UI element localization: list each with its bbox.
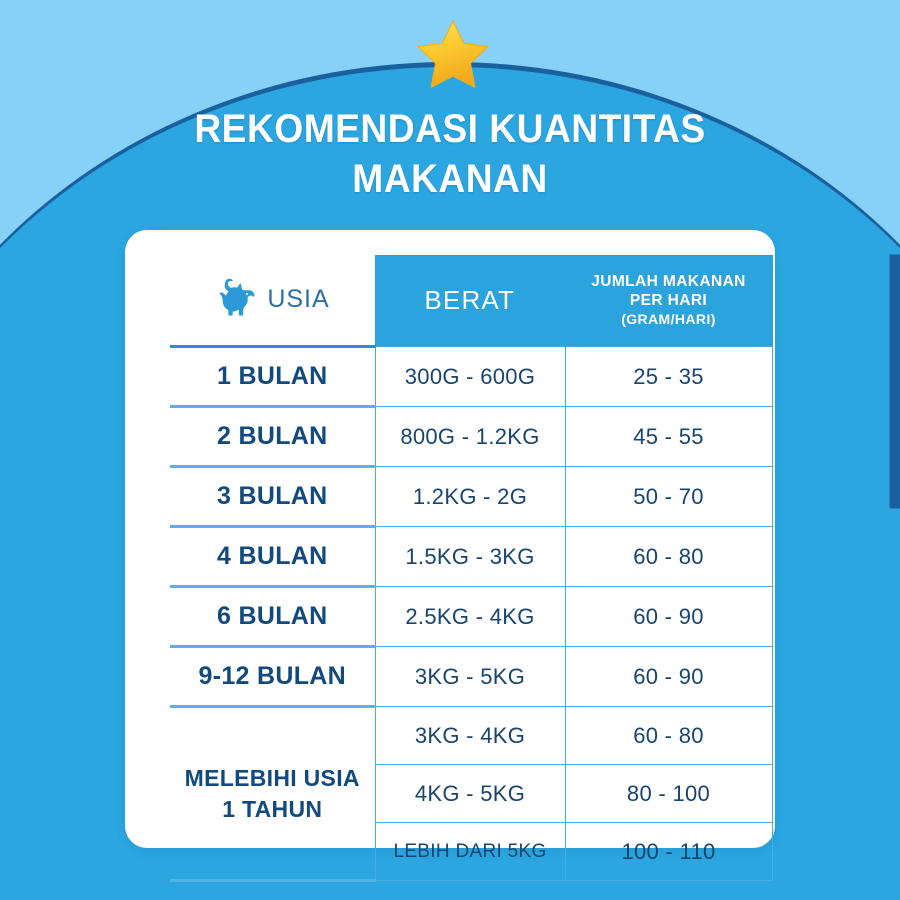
header-label-food-line-3: (GRAM/HARI) — [572, 310, 766, 329]
cell-food: 25 - 35 — [565, 347, 772, 407]
page-title: REKOMENDASI KUANTITAS MAKANAN — [32, 104, 869, 204]
header-label-weight: BERAT — [424, 285, 515, 315]
cell-weight: 1.2KG - 2G — [375, 467, 565, 527]
cat-icon — [215, 275, 259, 324]
cell-weight: 3KG - 4KG — [375, 707, 565, 765]
table-header-row: USIA BERAT JUMLAH MAKANAN PER HARI (GRAM… — [170, 255, 772, 347]
cell-weight: 4KG - 5KG — [375, 765, 565, 823]
cell-food: 50 - 70 — [565, 467, 772, 527]
cell-weight: 300G - 600G — [375, 347, 565, 407]
table-card: USIA BERAT JUMLAH MAKANAN PER HARI (GRAM… — [125, 230, 775, 848]
header-label-age: USIA — [267, 285, 329, 314]
table-row: 1 BULAN 300G - 600G 25 - 35 — [170, 347, 772, 407]
table-row: 3 BULAN 1.2KG - 2G 50 - 70 — [170, 467, 772, 527]
table-row: 9-12 BULAN 3KG - 5KG 60 - 90 — [170, 647, 772, 707]
cell-age-over-one-year: MELEBIHI USIA 1 TAHUN — [170, 707, 375, 881]
cell-food: 60 - 90 — [565, 587, 772, 647]
cell-weight: 1.5KG - 3KG — [375, 527, 565, 587]
cell-age: 9-12 BULAN — [170, 647, 375, 707]
cell-age-over-one-year-line-2: 1 TAHUN — [222, 796, 322, 822]
cell-food: 100 - 110 — [565, 823, 772, 881]
cell-age: 4 BULAN — [170, 527, 375, 587]
title-line-2: MAKANAN — [32, 154, 869, 204]
cell-food: 60 - 80 — [565, 527, 772, 587]
cell-age: 3 BULAN — [170, 467, 375, 527]
cell-food: 80 - 100 — [565, 765, 772, 823]
header-label-food-line-2: PER HARI — [572, 291, 766, 310]
cell-age: 2 BULAN — [170, 407, 375, 467]
cell-weight: 3KG - 5KG — [375, 647, 565, 707]
poster-canvas: REKOMENDASI KUANTITAS MAKANAN — [0, 0, 900, 900]
table-row: 2 BULAN 800G - 1.2KG 45 - 55 — [170, 407, 772, 467]
header-cell-food: JUMLAH MAKANAN PER HARI (GRAM/HARI) — [565, 255, 772, 347]
table-row: MELEBIHI USIA 1 TAHUN 3KG - 4KG 60 - 80 — [170, 707, 772, 765]
cell-age: 1 BULAN — [170, 347, 375, 407]
table-row: 6 BULAN 2.5KG - 4KG 60 - 90 — [170, 587, 772, 647]
header-label-food-line-1: JUMLAH MAKANAN — [572, 272, 766, 291]
table-row: 4 BULAN 1.5KG - 3KG 60 - 80 — [170, 527, 772, 587]
cell-food: 60 - 90 — [565, 647, 772, 707]
header-cell-age: USIA — [170, 255, 375, 347]
feeding-quantity-table: USIA BERAT JUMLAH MAKANAN PER HARI (GRAM… — [170, 255, 773, 882]
cell-age-over-one-year-line-1: MELEBIHI USIA — [185, 765, 360, 791]
cell-weight: LEBIH DARI 5KG — [375, 823, 565, 881]
title-line-1: REKOMENDASI KUANTITAS — [32, 104, 869, 154]
header-cell-weight: BERAT — [375, 255, 565, 347]
cell-weight: 2.5KG - 4KG — [375, 587, 565, 647]
cell-weight: 800G - 1.2KG — [375, 407, 565, 467]
cell-food: 45 - 55 — [565, 407, 772, 467]
cell-food: 60 - 80 — [565, 707, 772, 765]
star-icon — [416, 18, 490, 90]
cell-age: 6 BULAN — [170, 587, 375, 647]
